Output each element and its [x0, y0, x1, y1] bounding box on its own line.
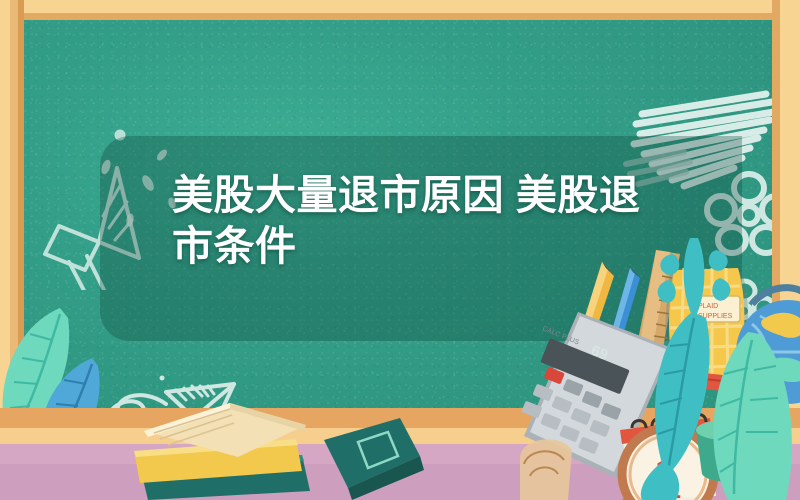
frame-top-inner-line	[0, 13, 800, 20]
leaves-right	[636, 236, 800, 500]
title-line-1: 美股大量退市原因 美股退	[172, 170, 732, 221]
banner-image: 美股大量退市原因 美股退 市条件	[0, 0, 800, 500]
protractor-icon	[520, 439, 572, 500]
teal-book	[318, 412, 428, 500]
frame-top-outer	[0, 0, 800, 13]
